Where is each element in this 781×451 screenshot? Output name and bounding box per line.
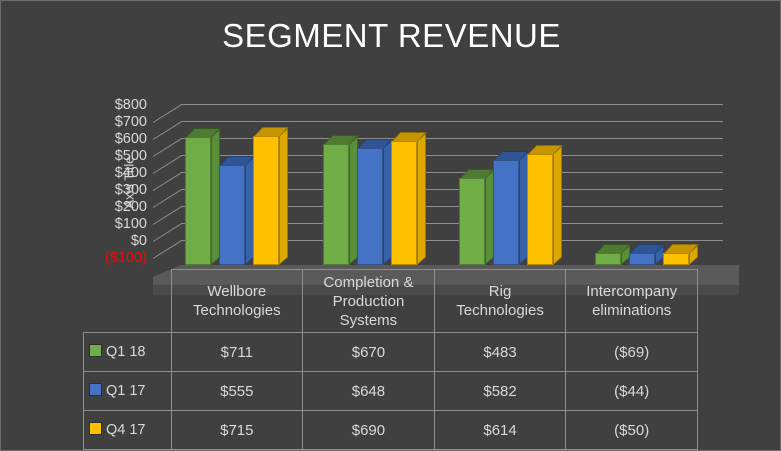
bar-front-face xyxy=(185,137,211,265)
bar-front-face xyxy=(663,253,689,265)
bar-front-face xyxy=(357,148,383,265)
category-line-1: Wellbore xyxy=(175,282,300,301)
gridline-diagonal-600 xyxy=(153,138,182,157)
cell-q1-17-rig: $582 xyxy=(434,372,566,411)
bar-front-face xyxy=(459,178,485,265)
category-line-2: Technologies xyxy=(438,301,563,320)
category-header-completion: Completion & Production Systems xyxy=(303,270,435,333)
cell-q1-17-intercompany: ($44) xyxy=(566,372,698,411)
cell-q4-17-completion: $690 xyxy=(303,411,435,450)
legend-swatch-blue xyxy=(89,383,102,396)
table-header-row: Wellbore Technologies Completion & Produ… xyxy=(84,270,698,333)
bar-front-face xyxy=(323,144,349,265)
gridline-diagonal-400 xyxy=(153,172,182,191)
category-line-1: Intercompany xyxy=(569,282,694,301)
legend-key-q1-18[interactable]: Q1 18 xyxy=(84,333,172,372)
bar-q1-17-wellbore[interactable] xyxy=(219,165,245,265)
gridline-diagonal-300 xyxy=(153,189,182,208)
bar-q4-17-completion[interactable] xyxy=(391,141,417,265)
y-tick-500: $500 xyxy=(83,149,147,163)
bar-front-face xyxy=(527,154,553,265)
y-tick-400: $400 xyxy=(83,166,147,180)
bar-front-face xyxy=(493,160,519,265)
bar-q1-17-completion[interactable] xyxy=(357,148,383,265)
data-table[interactable]: Wellbore Technologies Completion & Produ… xyxy=(83,269,698,450)
bar-side-face xyxy=(553,146,562,265)
bar-q1-18-completion[interactable] xyxy=(323,144,349,265)
y-tick-negative-100: ($100) xyxy=(83,251,147,265)
bar-front-face xyxy=(595,253,621,265)
bar-front-face xyxy=(629,253,655,265)
cell-q4-17-intercompany: ($50) xyxy=(566,411,698,450)
y-tick-600: $600 xyxy=(83,132,147,146)
bar-q1-17-rig[interactable] xyxy=(493,160,519,265)
cell-q1-18-intercompany: ($69) xyxy=(566,333,698,372)
cell-q1-18-rig: $483 xyxy=(434,333,566,372)
category-header-wellbore: Wellbore Technologies xyxy=(171,270,303,333)
y-axis-tick-labels: $800 $700 $600 $500 $400 $300 $200 $100 … xyxy=(83,89,147,289)
cell-q1-18-completion: $670 xyxy=(303,333,435,372)
legend-key-q4-17[interactable]: Q4 17 xyxy=(84,411,172,450)
table-row[interactable]: Q1 18 $711 $670 $483 ($69) xyxy=(84,333,698,372)
gridline-diagonal-200 xyxy=(153,206,182,225)
legend-swatch-yellow xyxy=(89,422,102,435)
gridline-diagonal-700 xyxy=(153,121,182,140)
category-line-3: Systems xyxy=(306,311,431,330)
bar-q1-18-rig[interactable] xyxy=(459,178,485,265)
bar-group-rig-technologies[interactable] xyxy=(459,89,599,289)
y-tick-200: $200 xyxy=(83,200,147,214)
category-line-2: Production xyxy=(306,292,431,311)
y-tick-700: $700 xyxy=(83,115,147,129)
y-tick-100: $100 xyxy=(83,217,147,231)
category-header-rig: Rig Technologies xyxy=(434,270,566,333)
y-tick-0: $0 xyxy=(83,234,147,248)
bar-side-face xyxy=(417,133,426,265)
cell-q1-17-completion: $648 xyxy=(303,372,435,411)
bar-group-completion-production-systems[interactable] xyxy=(323,89,463,289)
y-tick-800: $800 xyxy=(83,98,147,112)
bar-q1-18-intercompany[interactable] xyxy=(595,253,621,265)
legend-swatch-green xyxy=(89,344,102,357)
gridline-diagonal-0 xyxy=(153,240,182,259)
bar-q4-17-rig[interactable] xyxy=(527,154,553,265)
category-header-intercompany: Intercompany eliminations xyxy=(566,270,698,333)
legend-label: Q4 17 xyxy=(106,422,146,438)
chart-title: SEGMENT REVENUE xyxy=(1,17,781,55)
bar-front-face xyxy=(219,165,245,265)
gridline-diagonal-500 xyxy=(153,155,182,174)
category-line-1: Completion & xyxy=(306,273,431,292)
table-row[interactable]: Q1 17 $555 $648 $582 ($44) xyxy=(84,372,698,411)
bar-q4-17-intercompany[interactable] xyxy=(663,253,689,265)
gridline-diagonal-100 xyxy=(153,223,182,242)
bar-front-face xyxy=(391,141,417,265)
legend-key-q1-17[interactable]: Q1 17 xyxy=(84,372,172,411)
bar-side-face xyxy=(279,128,288,265)
bar-q4-17-wellbore[interactable] xyxy=(253,136,279,265)
gridline-diagonal-800 xyxy=(153,104,182,123)
category-line-2: eliminations xyxy=(569,301,694,320)
y-tick-300: $300 xyxy=(83,183,147,197)
table-row[interactable]: Q4 17 $715 $690 $614 ($50) xyxy=(84,411,698,450)
cell-q4-17-rig: $614 xyxy=(434,411,566,450)
category-line-2: Technologies xyxy=(175,301,300,320)
bar-front-face xyxy=(253,136,279,265)
category-line-1: Rig xyxy=(438,282,563,301)
plot-area[interactable]: Axis Title $800 $700 $600 $500 $400 $300… xyxy=(83,89,733,289)
cell-q1-18-wellbore: $711 xyxy=(171,333,303,372)
legend-label: Q1 18 xyxy=(106,344,146,360)
chart-container[interactable]: SEGMENT REVENUE Axis Title $800 $700 $60… xyxy=(0,0,781,451)
bar-q1-17-intercompany[interactable] xyxy=(629,253,655,265)
bar-q1-18-wellbore[interactable] xyxy=(185,137,211,265)
legend-header-blank xyxy=(84,270,172,333)
cell-q4-17-wellbore: $715 xyxy=(171,411,303,450)
bar-group-intercompany-eliminations[interactable] xyxy=(595,89,735,289)
legend-label: Q1 17 xyxy=(106,383,146,399)
cell-q1-17-wellbore: $555 xyxy=(171,372,303,411)
bar-group-wellbore-technologies[interactable] xyxy=(185,89,325,289)
